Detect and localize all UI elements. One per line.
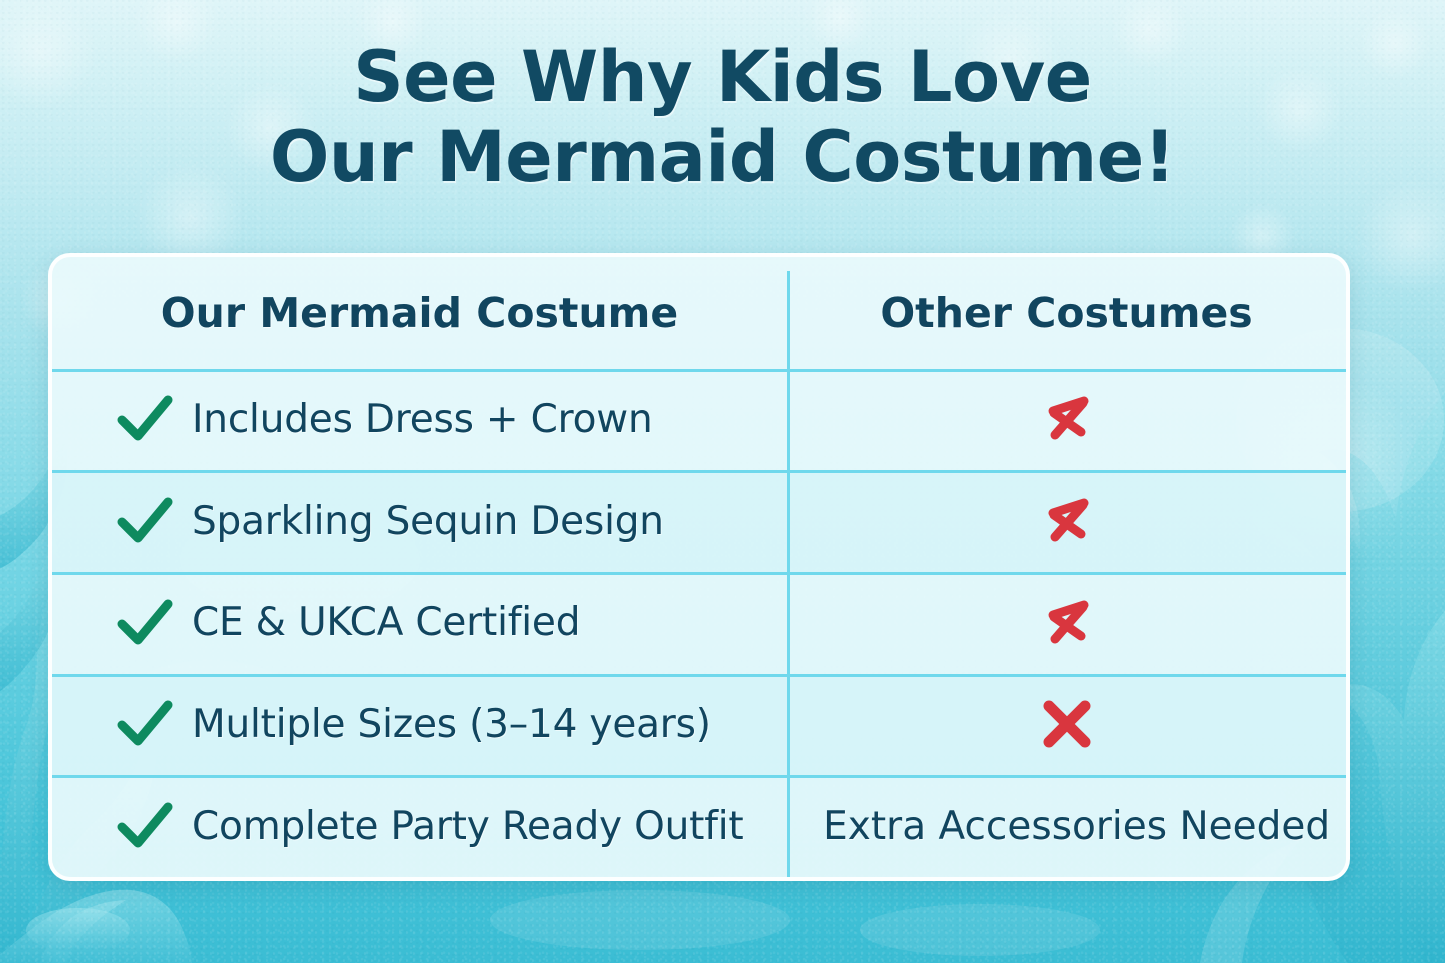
cross-icon: [1039, 493, 1095, 549]
page-title-line-2: Our Mermaid Costume!: [0, 118, 1445, 198]
page-title: See Why Kids Love Our Mermaid Costume!: [0, 38, 1445, 198]
row-other-label: Extra Accessories Needed: [823, 804, 1330, 849]
row-feature-label: Sparkling Sequin Design: [192, 499, 664, 544]
coral-left-lower: [0, 890, 192, 963]
row-feature-label: Multiple Sizes (3–14 years): [192, 702, 711, 747]
check-icon: [114, 800, 176, 852]
check-icon: [114, 698, 176, 750]
table-row: Sparkling Sequin Design: [52, 470, 1346, 572]
header-cell-other: Other Costumes: [787, 257, 1346, 369]
row-feature-label: Complete Party Ready Outfit: [192, 804, 743, 849]
column-header-label: Our Mermaid Costume: [161, 289, 678, 337]
page-title-line-1: See Why Kids Love: [0, 38, 1445, 118]
cross-icon: [1039, 391, 1095, 447]
cross-icon-bold: [1036, 693, 1098, 755]
row-feature-label: CE & UKCA Certified: [192, 600, 580, 645]
check-icon: [114, 495, 176, 547]
poster-canvas: See Why Kids Love Our Mermaid Costume! O…: [0, 0, 1445, 963]
table-row: CE & UKCA Certified: [52, 572, 1346, 674]
row-other-cell: [787, 470, 1346, 572]
table-row: Complete Party Ready Outfit Extra Access…: [52, 775, 1346, 877]
row-feature-cell: Includes Dress + Crown: [52, 369, 787, 471]
row-other-cell: [787, 572, 1346, 674]
cross-icon: [1039, 595, 1095, 651]
row-feature-cell: Complete Party Ready Outfit: [52, 775, 787, 877]
row-other-cell: [787, 369, 1346, 471]
row-feature-label: Includes Dress + Crown: [192, 397, 652, 442]
table-header-row: Our Mermaid Costume Other Costumes: [52, 257, 1346, 369]
column-header-label: Other Costumes: [880, 289, 1252, 337]
table-row: Includes Dress + Crown: [52, 369, 1346, 471]
check-icon: [114, 393, 176, 445]
row-feature-cell: CE & UKCA Certified: [52, 572, 787, 674]
row-other-cell: Extra Accessories Needed: [787, 775, 1346, 877]
comparison-table: Our Mermaid Costume Other Costumes Inclu…: [52, 257, 1346, 877]
row-other-cell: [787, 674, 1346, 776]
row-feature-cell: Sparkling Sequin Design: [52, 470, 787, 572]
row-feature-cell: Multiple Sizes (3–14 years): [52, 674, 787, 776]
check-icon: [114, 597, 176, 649]
header-cell-ours: Our Mermaid Costume: [52, 257, 787, 369]
comparison-card: Our Mermaid Costume Other Costumes Inclu…: [48, 253, 1350, 881]
table-row: Multiple Sizes (3–14 years): [52, 674, 1346, 776]
